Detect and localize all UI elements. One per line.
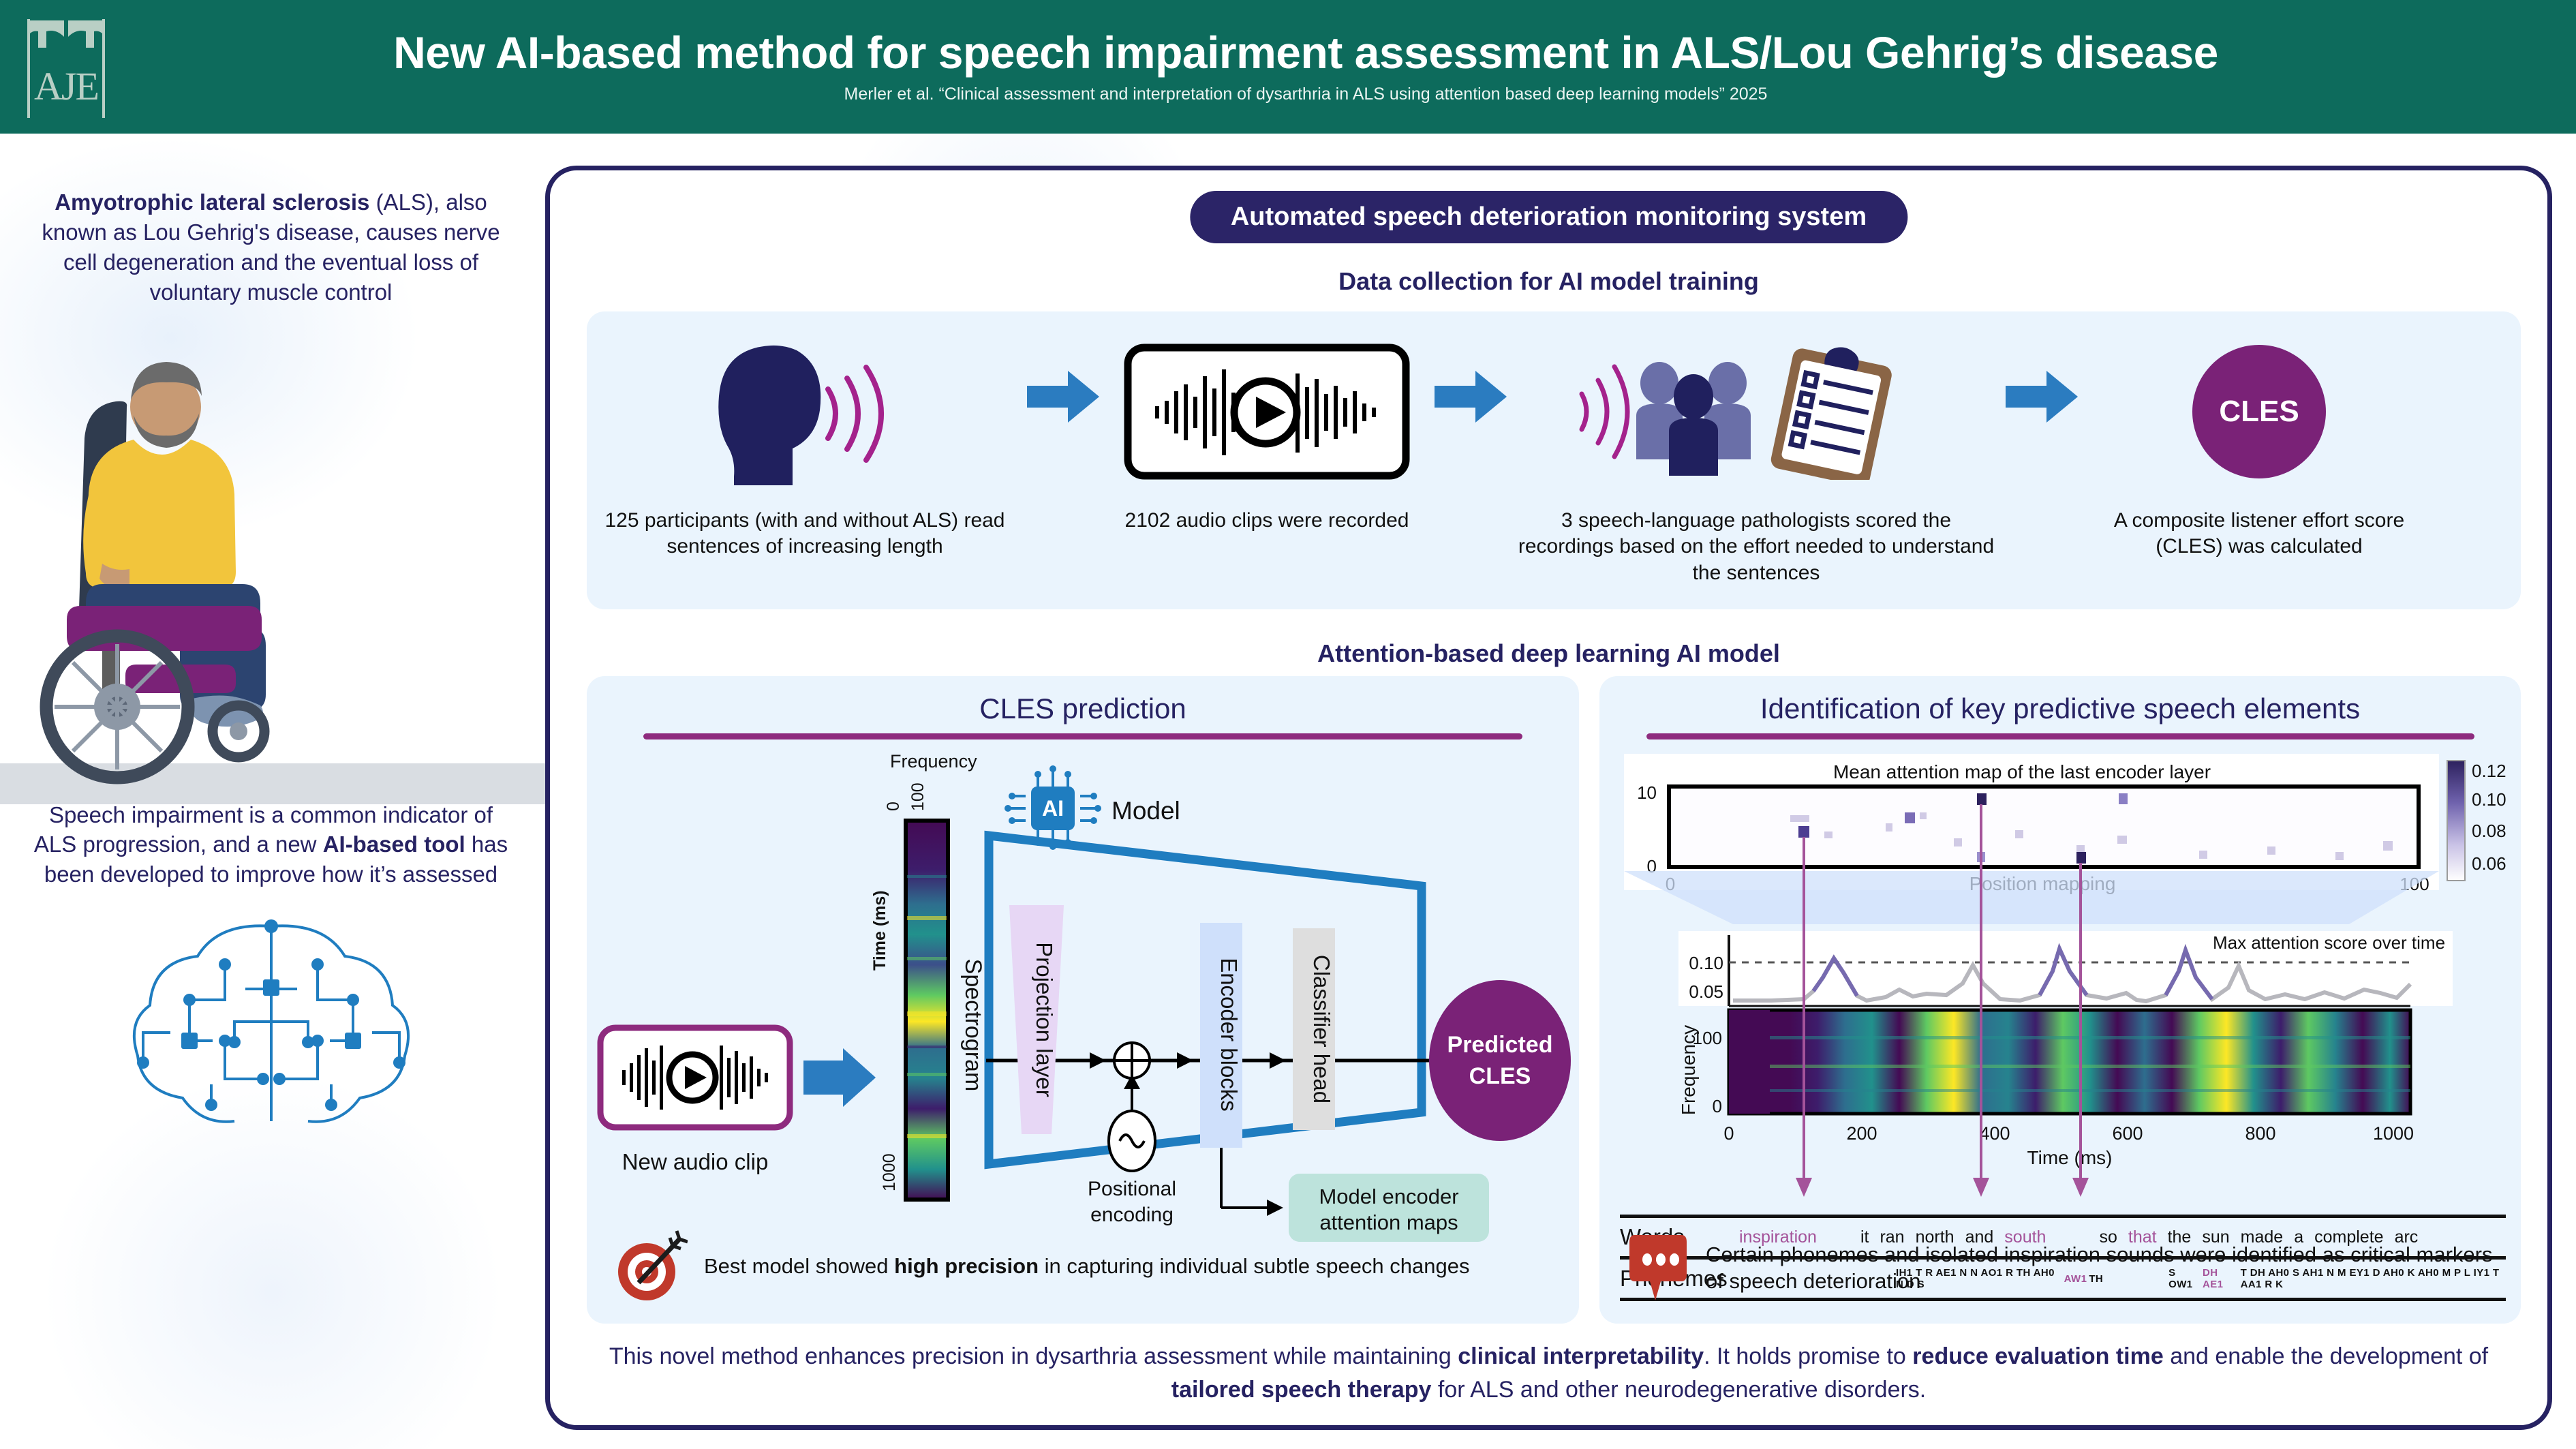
cbar-tick-008: 0.08 [2472, 821, 2506, 841]
panel-left-rule [643, 733, 1522, 739]
speech-impairment-text: Speech impairment is a common indicator … [0, 800, 542, 890]
flow-arrow [1023, 311, 1103, 482]
svg-text:AI: AI [1042, 796, 1064, 821]
time-tick-1000: 1000 [880, 1153, 899, 1191]
panel-right-title: Identification of key predictive speech … [1599, 692, 2521, 725]
conclusion-part-1: This novel method enhances precision in … [609, 1343, 1458, 1369]
spec-ytick-0: 0 [1713, 1096, 1722, 1116]
spec-xtick-400: 400 [1979, 1123, 2010, 1144]
spec-xtick-1000: 1000 [2373, 1123, 2414, 1144]
cles-badge-art: CLES [2192, 326, 2326, 497]
flow-arrow [2002, 311, 2082, 482]
callout-phonemes-text: Certain phonemes and isolated inspiratio… [1706, 1241, 2504, 1295]
arrow-right-icon [1027, 371, 1099, 423]
conclusion-bold-3: tailored speech therapy [1171, 1377, 1432, 1403]
page-subtitle: Merler et al. “Clinical assessment and i… [117, 85, 2494, 104]
new-audio-clip-label: New audio clip [622, 1149, 769, 1174]
page-title: New AI-based method for speech impairmen… [117, 29, 2494, 76]
circuit-brain-icon [0, 899, 542, 1124]
conclusion-part-2: . It holds promise to [1704, 1343, 1912, 1369]
attention-map-title: Mean attention map of the last encoder l… [1833, 761, 2211, 782]
als-definition-bold: Amyotrophic lateral sclerosis [55, 189, 369, 215]
spec-ytick-100: 100 [1693, 1028, 1722, 1048]
attention-maps-line1: Model encoder [1319, 1185, 1458, 1208]
callout-precision-text: Best model showed high precision in capt… [704, 1253, 1470, 1279]
speech-impairment-bold: AI-based tool [323, 832, 465, 857]
callout-precision-pre: Best model showed [704, 1254, 894, 1278]
attn-line-ytick-010: 0.10 [1689, 953, 1723, 973]
als-definition-text: Amyotrophic lateral sclerosis (ALS), als… [0, 187, 542, 307]
conclusion-part-3: and enable the development of [2164, 1343, 2488, 1369]
callout-precision-bold: high precision [894, 1254, 1039, 1278]
cles-badge-label: CLES [2219, 395, 2299, 429]
frequency-label: Frequency [890, 752, 977, 772]
arrow-right-icon [2006, 371, 2078, 423]
cles-circle-icon: CLES [2192, 345, 2326, 478]
panel-key-elements: Identification of key predictive speech … [1599, 676, 2521, 1324]
conclusion-text: This novel method enhances precision in … [598, 1340, 2500, 1406]
data-collection-strip: 125 participants (with and without ALS) … [587, 311, 2521, 609]
collection-step-caption: 3 speech-language pathologists scored th… [1511, 508, 2002, 586]
classifier-head-label: Classifier head [1309, 955, 1334, 1103]
collection-step: 2102 audio clips were recorded [1103, 311, 1430, 534]
flow-arrow [1430, 311, 1511, 482]
collection-step: CLES A composite listener effort score (… [2082, 311, 2436, 560]
positional-encoding-label-2: encoding [1090, 1204, 1174, 1226]
attn-line-ytick-005: 0.05 [1689, 981, 1723, 1002]
pathologists-art [1565, 326, 1947, 497]
predicted-cles-line2: CLES [1469, 1063, 1531, 1089]
time-axis-label: Time (ms) [870, 890, 889, 971]
spec-xtick-800: 800 [2245, 1123, 2275, 1144]
projection-layer-label: Projection layer [1032, 942, 1057, 1097]
conclusion-part-4: for ALS and other neurodegenerative diso… [1431, 1377, 1926, 1403]
freq-tick-100: 100 [908, 782, 927, 811]
model-label: Model [1111, 797, 1180, 825]
spec-xtick-0: 0 [1723, 1123, 1734, 1144]
audio-waveform-play-icon [1124, 344, 1410, 480]
speaking-head-icon [696, 339, 914, 485]
collection-step: 3 speech-language pathologists scored th… [1511, 311, 2002, 586]
spec-xtick-600: 600 [2112, 1123, 2143, 1144]
positional-encoding-label-1: Positional [1088, 1178, 1176, 1200]
spectrogram-label: Spectrogram [960, 959, 986, 1092]
svg-text:AJE: AJE [34, 64, 98, 108]
time-axis-label-right: Time (ms) [2027, 1147, 2113, 1168]
header-text-block: New AI-based method for speech impairmen… [117, 29, 2576, 104]
system-title-pill: Automated speech deterioration monitorin… [1190, 191, 1907, 243]
wheelchair-person-illustration [0, 320, 542, 797]
main-content-card: Automated speech deterioration monitorin… [545, 166, 2552, 1430]
panel-right-rule [1646, 733, 2474, 739]
speech-bubble-icon [1627, 1232, 1689, 1303]
collection-step: 125 participants (with and without ALS) … [587, 311, 1023, 560]
speaking-head-art [696, 326, 914, 497]
panel-cles-prediction: CLES prediction AI Mo [587, 676, 1579, 1324]
conclusion-bold-2: reduce evaluation time [1912, 1343, 2163, 1369]
key-elements-figure: Mean attention map of the last encoder l… [1599, 750, 2521, 1213]
left-info-column: Amyotrophic lateral sclerosis (ALS), als… [0, 157, 542, 1438]
panel-left-title: CLES prediction [587, 692, 1579, 725]
spec-xtick-200: 200 [1846, 1123, 1877, 1144]
section-heading-data-collection: Data collection for AI model training [550, 267, 2547, 296]
cbar-tick-012: 0.12 [2472, 761, 2506, 781]
pathologists-clipboard-icon [1565, 344, 1947, 480]
target-arrow-icon [614, 1230, 688, 1303]
encoder-blocks-label: Encoder blocks [1216, 958, 1242, 1112]
freq-tick-0: 0 [884, 802, 903, 811]
conclusion-bold-1: clinical interpretability [1458, 1343, 1704, 1369]
page-header: AJE New AI-based method for speech impai… [0, 0, 2576, 134]
cbar-tick-010: 0.10 [2472, 789, 2506, 810]
audio-clip-art [1124, 326, 1410, 497]
collection-step-caption: 125 participants (with and without ALS) … [587, 508, 1023, 560]
max-attention-label: Max attention score over time [2213, 932, 2445, 953]
callout-precision: Best model showed high precision in capt… [614, 1230, 1563, 1303]
collection-step-caption: 2102 audio clips were recorded [1125, 508, 1409, 534]
section-heading-ai-model: Attention-based deep learning AI model [550, 639, 2547, 668]
cles-prediction-diagram: AI Model New audio clip Frequen [587, 752, 1579, 1277]
predicted-cles-line1: Predicted [1447, 1032, 1553, 1058]
aje-logo-icon: AJE [15, 12, 117, 121]
cbar-tick-006: 0.06 [2472, 853, 2506, 874]
arrow-right-icon [1435, 371, 1507, 423]
collection-step-caption: A composite listener effort score (CLES)… [2082, 508, 2436, 560]
callout-precision-post: in capturing individual subtle speech ch… [1039, 1254, 1469, 1278]
callout-phonemes: Certain phonemes and isolated inspiratio… [1627, 1232, 2504, 1303]
attn-ytick-10: 10 [1637, 782, 1657, 803]
